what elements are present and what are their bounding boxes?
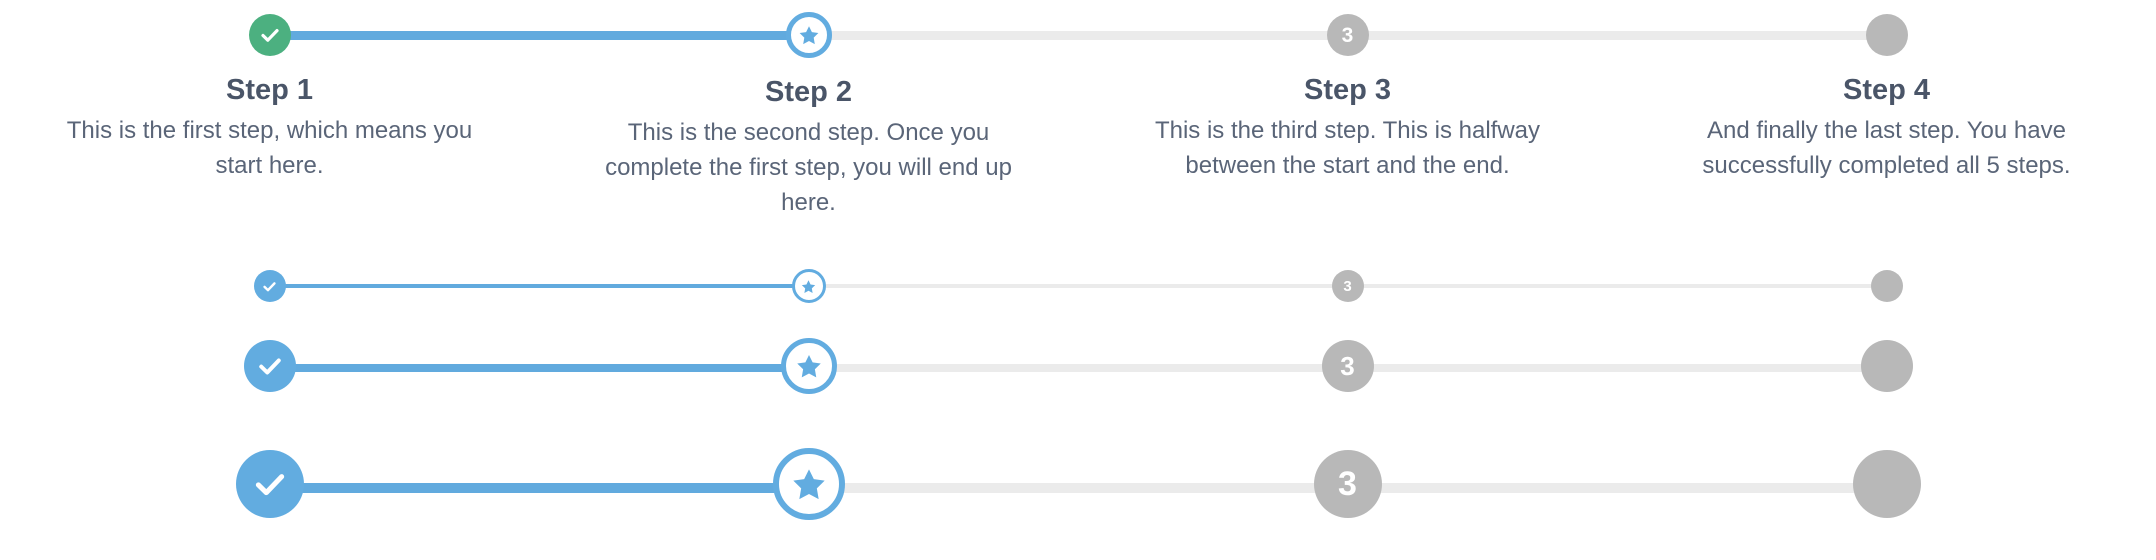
check-icon — [255, 351, 285, 381]
step-bubble-upcoming[interactable]: 3 — [1327, 14, 1369, 56]
step-bubble-current[interactable] — [781, 338, 837, 394]
step-bubble-upcoming[interactable]: 3 — [1332, 270, 1364, 302]
labeled-stepper: Step 1 This is the first step, which mea… — [0, 14, 2156, 221]
step-description: And finally the last step. You have succ… — [1660, 114, 2113, 184]
step-item-2[interactable] — [539, 340, 1078, 394]
step-labels: Step 4 And finally the last step. You ha… — [1660, 72, 2113, 184]
large-stepper: 3 — [0, 450, 2156, 520]
step-description: This is the third step. This is halfway … — [1121, 114, 1574, 184]
step-item-1[interactable] — [0, 450, 539, 518]
step-bubble-current[interactable] — [773, 448, 845, 520]
step-labels: Step 1 This is the first step, which mea… — [43, 72, 496, 184]
step-item-2[interactable] — [539, 270, 1078, 303]
step-title: Step 4 — [1660, 72, 2113, 108]
star-icon — [797, 23, 821, 47]
step-bubble-upcoming[interactable]: 3 — [1322, 340, 1374, 392]
step-number: 3 — [1342, 25, 1354, 46]
step-item-2[interactable]: Step 2 This is the second step. Once you… — [539, 14, 1078, 221]
step-bubble-complete[interactable] — [236, 450, 304, 518]
step-number: 3 — [1340, 353, 1354, 379]
step-bubble-empty[interactable] — [1871, 270, 1903, 302]
step-bubble-empty[interactable] — [1853, 450, 1921, 518]
step-bubble-current[interactable] — [792, 269, 826, 303]
step-labels: Step 2 This is the second step. Once you… — [582, 74, 1035, 221]
check-icon — [250, 464, 290, 504]
step-item-4[interactable] — [1617, 270, 2156, 302]
step-bubble-complete[interactable] — [244, 340, 296, 392]
step-bubble-empty[interactable] — [1861, 340, 1913, 392]
step-bubble-upcoming[interactable]: 3 — [1314, 450, 1382, 518]
step-item-1[interactable]: Step 1 This is the first step, which mea… — [0, 14, 539, 184]
small-stepper: 3 — [0, 270, 2156, 303]
step-bubble-complete[interactable] — [254, 270, 286, 302]
step-bubble-empty[interactable] — [1866, 14, 1908, 56]
step-item-3[interactable]: 3 — [1078, 340, 1617, 392]
medium-stepper: 3 — [0, 340, 2156, 394]
step-number: 3 — [1338, 467, 1357, 501]
step-labels: Step 3 This is the third step. This is h… — [1121, 72, 1574, 184]
step-item-3[interactable]: 3 — [1078, 270, 1617, 302]
step-description: This is the second step. Once you comple… — [582, 116, 1035, 220]
step-item-2[interactable] — [539, 450, 1078, 520]
check-icon — [261, 278, 278, 295]
star-icon — [794, 351, 824, 381]
star-icon — [789, 464, 829, 504]
step-title: Step 1 — [43, 72, 496, 108]
step-bubble-current[interactable] — [786, 12, 832, 58]
step-number: 3 — [1343, 279, 1351, 294]
step-description: This is the first step, which means you … — [43, 114, 496, 184]
star-icon — [800, 278, 817, 295]
step-bubble-complete[interactable] — [249, 14, 291, 56]
step-item-1[interactable] — [0, 270, 539, 302]
step-item-4[interactable] — [1617, 340, 2156, 392]
step-item-4[interactable]: Step 4 And finally the last step. You ha… — [1617, 14, 2156, 184]
step-item-3[interactable]: 3 — [1078, 450, 1617, 518]
stepper-showcase-page: Step 1 This is the first step, which mea… — [0, 0, 2156, 560]
check-icon — [258, 23, 282, 47]
step-item-1[interactable] — [0, 340, 539, 392]
step-title: Step 3 — [1121, 72, 1574, 108]
step-item-4[interactable] — [1617, 450, 2156, 518]
step-title: Step 2 — [582, 74, 1035, 110]
step-item-3[interactable]: 3 Step 3 This is the third step. This is… — [1078, 14, 1617, 184]
